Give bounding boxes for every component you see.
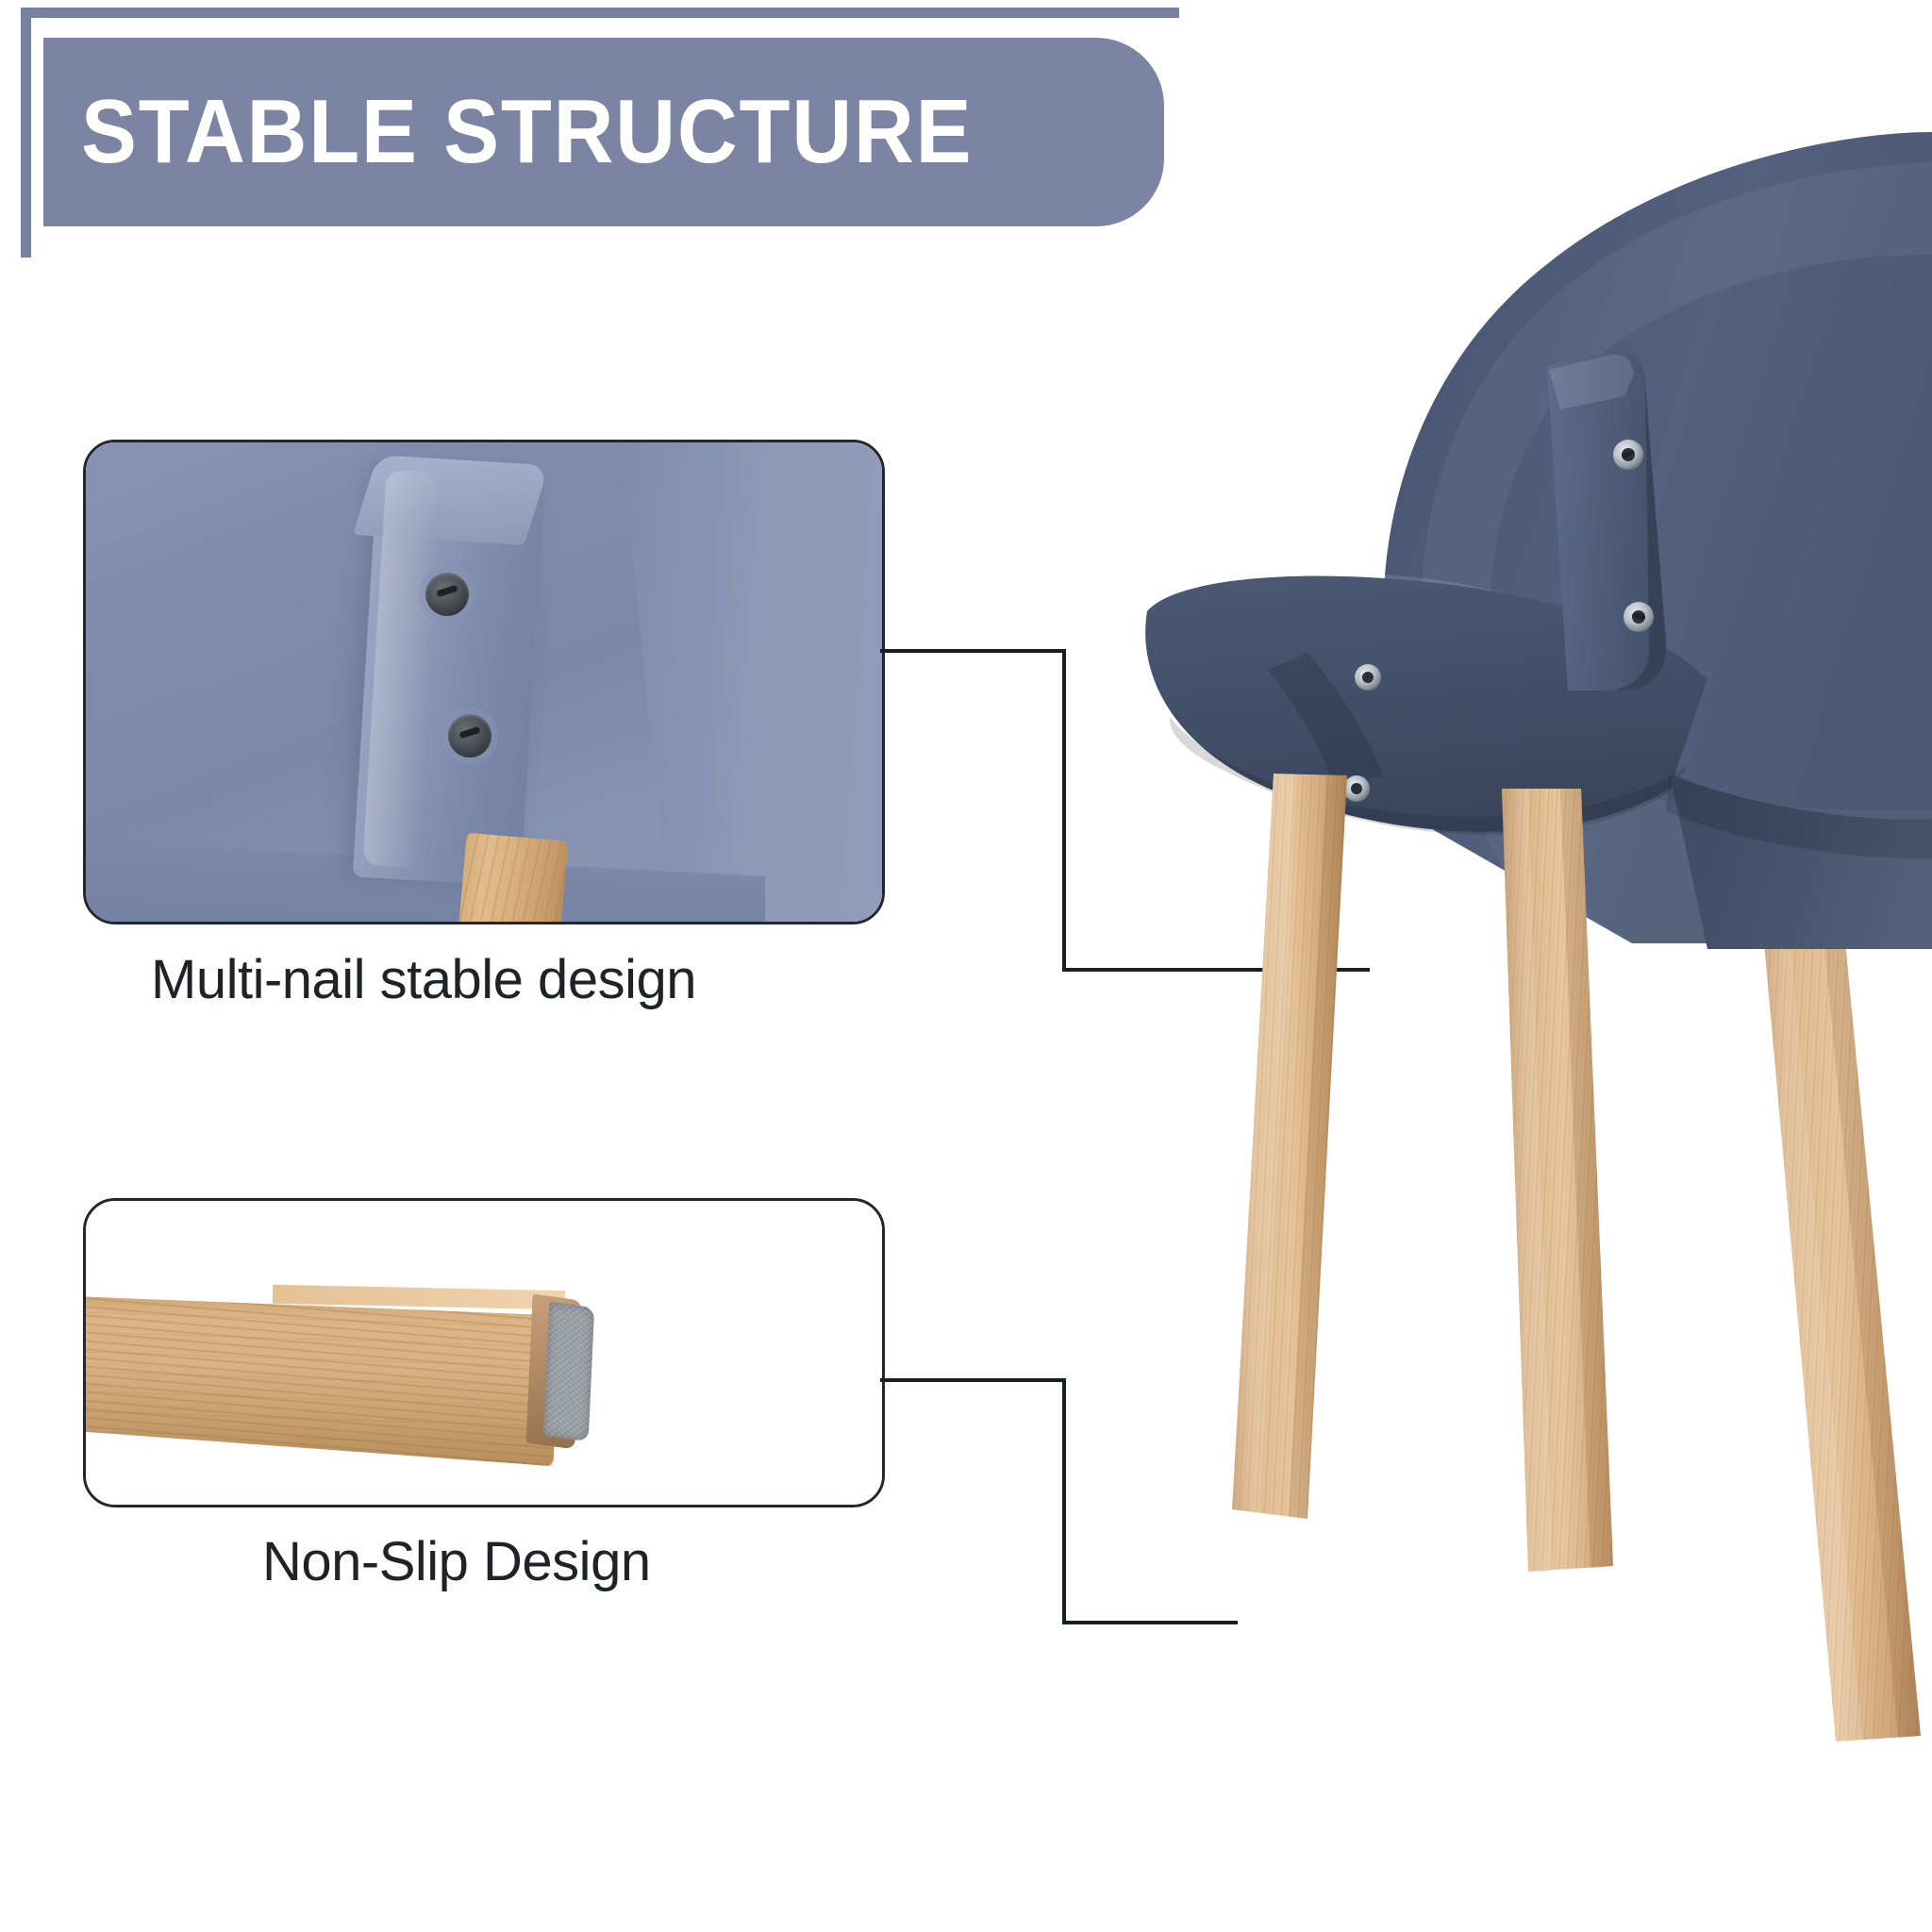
callout-box-multi-nail	[83, 440, 885, 924]
wood-grain-texture	[83, 1291, 560, 1466]
chair-leg	[1232, 774, 1347, 1519]
screw-icon	[425, 573, 469, 616]
page-title: STABLE STRUCTURE	[81, 87, 973, 177]
wooden-leg-stub	[457, 833, 569, 924]
callout-box-non-slip	[83, 1198, 885, 1507]
header-rule-left	[21, 8, 31, 258]
callout-photo-non-slip	[86, 1201, 882, 1505]
callout-caption-non-slip: Non-Slip Design	[262, 1530, 651, 1593]
product-photo-chair	[1141, 113, 1932, 1830]
header-rule-top	[21, 8, 1179, 18]
callout-caption-multi-nail: Multi-nail stable design	[151, 948, 696, 1011]
header-badge: STABLE STRUCTURE	[43, 38, 1164, 226]
callout-photo-multi-nail	[86, 442, 882, 922]
screw-icon	[1624, 602, 1654, 632]
wood-grain-texture	[457, 833, 569, 924]
felt-pad	[543, 1302, 594, 1441]
infographic-canvas: STABLE STRUCTURE Multi-nail stable desig…	[0, 0, 1932, 1932]
screw-icon	[1613, 440, 1643, 470]
felt-texture	[543, 1302, 594, 1441]
screw-icon	[448, 714, 491, 758]
chair-leg	[1757, 858, 1921, 1741]
wooden-chair-leg	[83, 1291, 560, 1466]
